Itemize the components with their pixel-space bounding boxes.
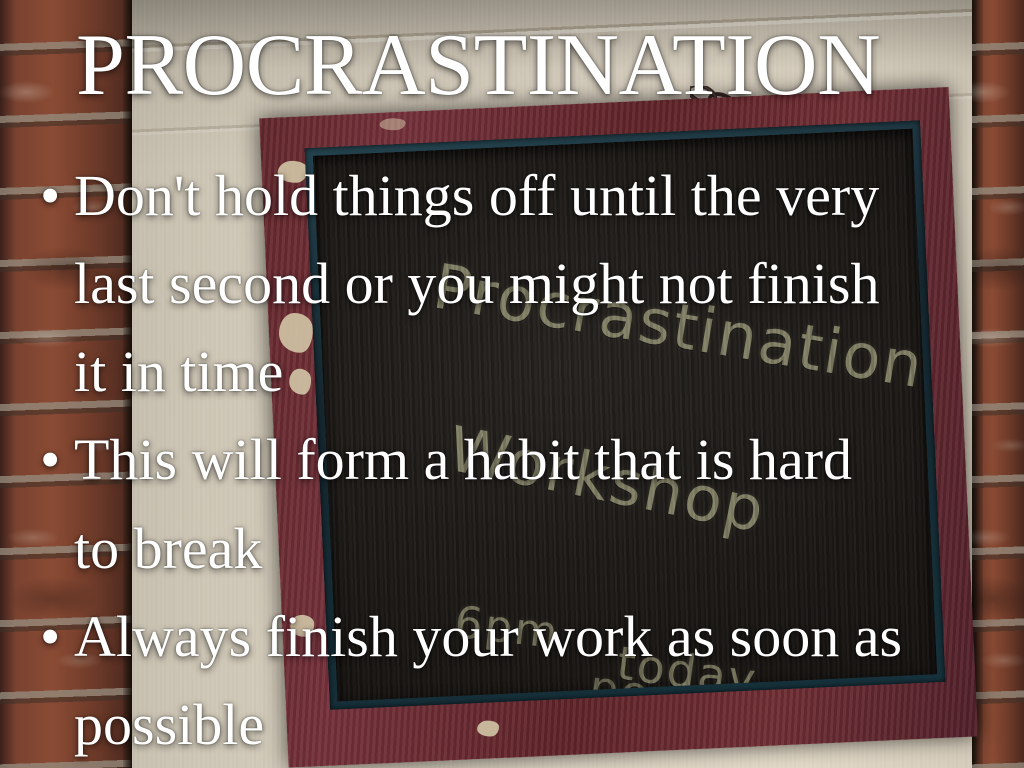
- list-item: • Always finish your work as soon as pos…: [40, 593, 1000, 768]
- presentation-slide: Procrastination Workshop 6pm today postp…: [0, 0, 1024, 768]
- bullet-marker-icon: •: [40, 152, 74, 240]
- list-item: • Don't hold things off until the very l…: [40, 152, 920, 416]
- slide-text-layer: PROCRASTINATION • Don't hold things off …: [0, 0, 1024, 768]
- bullet-text: Don't hold things off until the very las…: [74, 152, 920, 416]
- bullet-marker-icon: •: [40, 416, 74, 504]
- bullet-list: • Don't hold things off until the very l…: [40, 152, 1010, 768]
- page-title: PROCRASTINATION: [76, 22, 880, 110]
- bullet-marker-icon: •: [40, 593, 74, 681]
- list-item: • This will form a habit that is hard to…: [40, 416, 900, 592]
- bullet-text: This will form a habit that is hard to b…: [74, 416, 900, 592]
- bullet-text: Always finish your work as soon as possi…: [74, 593, 1000, 768]
